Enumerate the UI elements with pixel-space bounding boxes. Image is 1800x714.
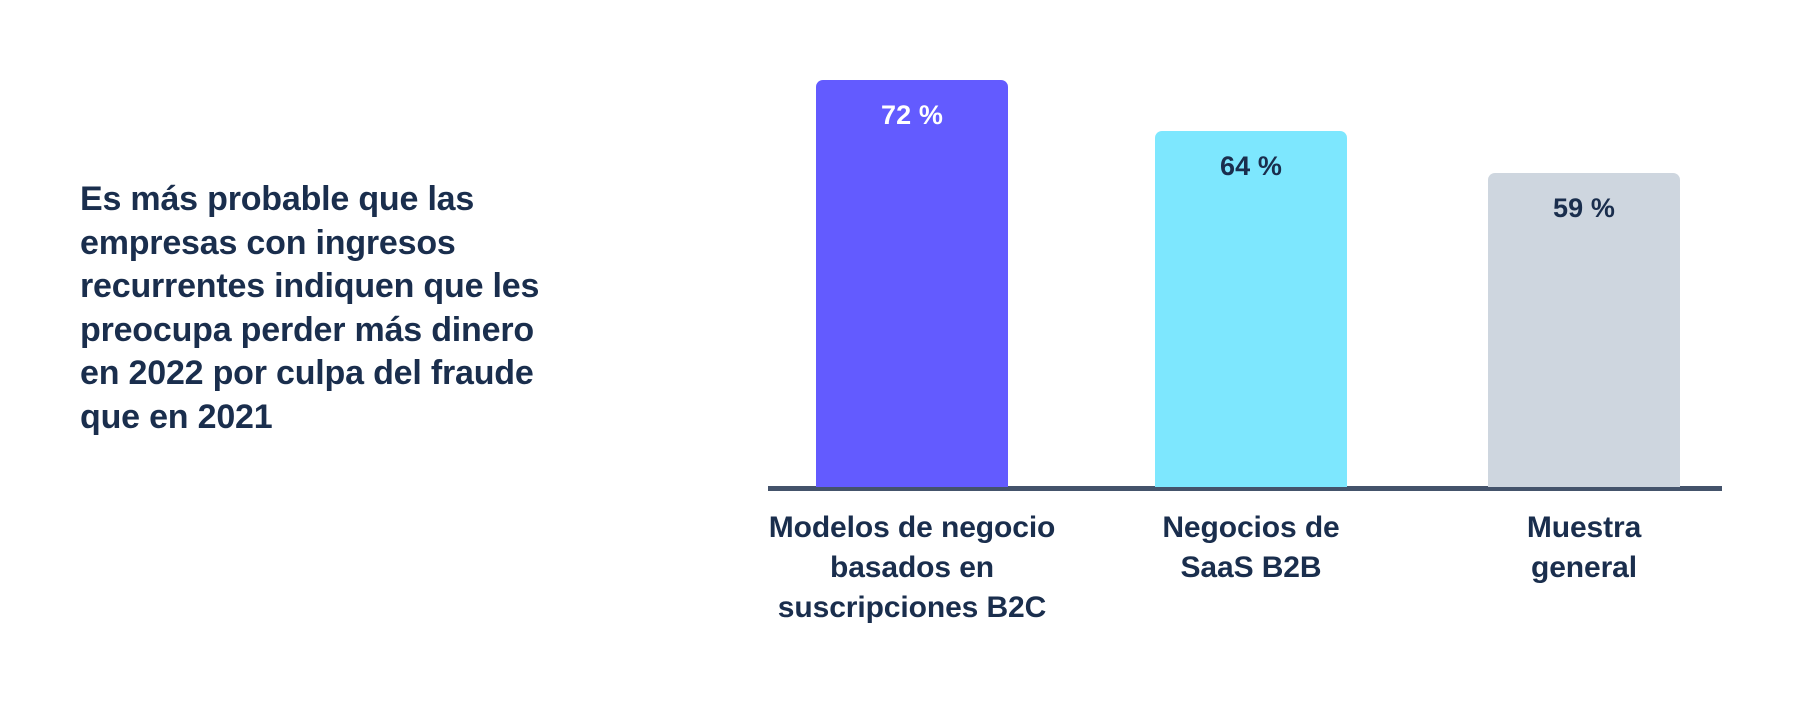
category-label-subscription-b2c: Modelos de negocio basados en suscripcio…	[756, 508, 1068, 628]
bar-value-subscription-b2c: 72 %	[816, 100, 1008, 131]
bar-saas-b2b[interactable]	[1155, 131, 1347, 487]
bar-value-saas-b2b: 64 %	[1155, 151, 1347, 182]
chart-headline: Es más probable que las empresas con ing…	[80, 178, 560, 439]
bar-group-overall-sample: 59 % Muestra general	[1488, 0, 1680, 714]
bar-chart-plot-area: 72 % Modelos de negocio basados en suscr…	[768, 0, 1728, 714]
bar-group-subscription-b2c: 72 % Modelos de negocio basados en suscr…	[816, 0, 1008, 714]
bar-subscription-b2c[interactable]	[816, 80, 1008, 487]
chart-figure: Es más probable que las empresas con ing…	[0, 0, 1800, 714]
bar-value-overall-sample: 59 %	[1488, 193, 1680, 224]
category-label-saas-b2b: Negocios de SaaS B2B	[1095, 508, 1407, 588]
bar-group-saas-b2b: 64 % Negocios de SaaS B2B	[1155, 0, 1347, 714]
category-label-overall-sample: Muestra general	[1428, 508, 1740, 588]
